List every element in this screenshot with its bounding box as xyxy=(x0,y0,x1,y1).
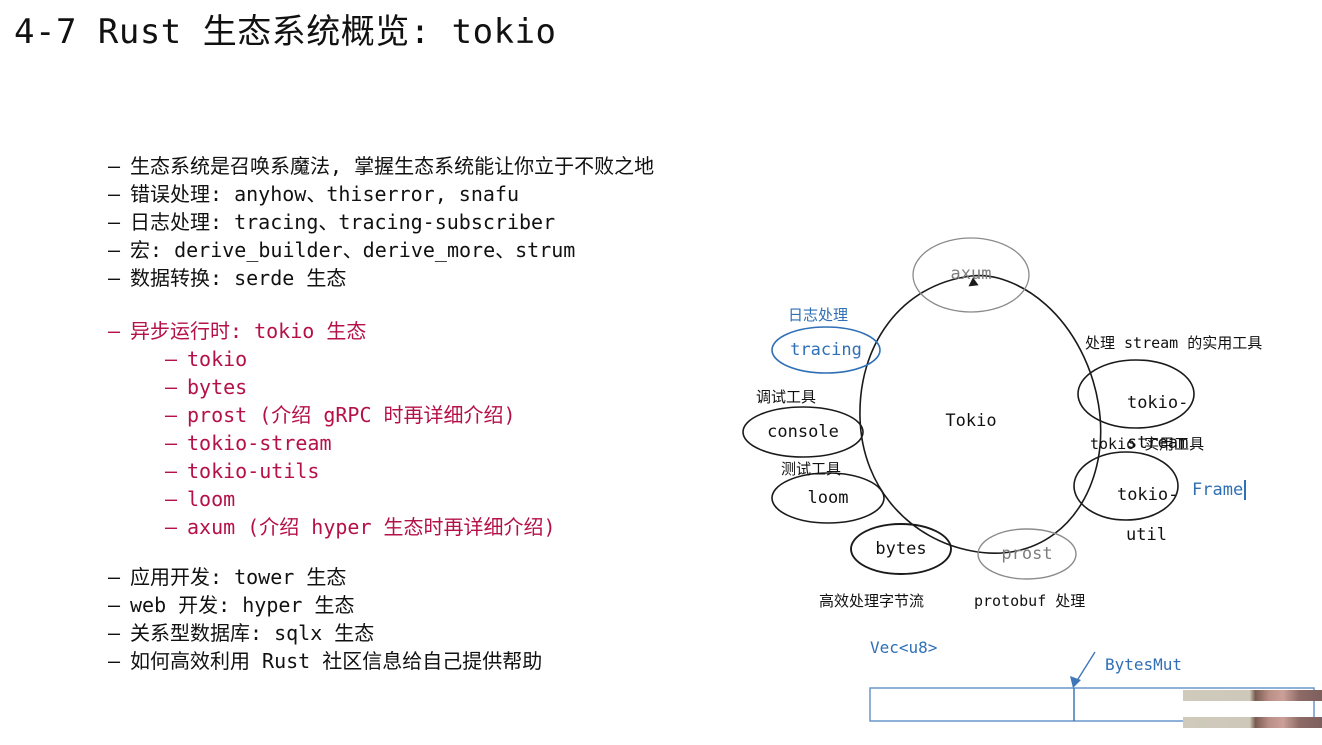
bullet-dash: – xyxy=(108,591,130,619)
list-item-label: prost (介绍 gRPC 时再详细介绍) xyxy=(187,401,516,429)
node-bytes: bytes xyxy=(861,539,941,559)
list-item: – 宏: derive_builder、derive_more、strum xyxy=(108,236,808,264)
annotation-bytes: 高效处理字节流 xyxy=(819,590,924,611)
list-item: – tokio xyxy=(108,345,808,373)
bullet-dash: – xyxy=(108,619,130,647)
node-tokio-util-line2: util xyxy=(1126,525,1167,545)
tokio-ecosystem-diagram: axum tracing console loom bytes prost to… xyxy=(740,228,1322,628)
annotation-tokio-stream: 处理 stream 的实用工具 xyxy=(1085,332,1262,353)
bullet-dash: – xyxy=(108,208,130,236)
bullet-dash: – xyxy=(108,236,130,264)
list-item: – loom xyxy=(108,485,808,513)
bullet-dash: – xyxy=(165,345,187,373)
video-overlay-strip xyxy=(1183,688,1322,745)
list-item-label: 应用开发: tower 生态 xyxy=(130,563,346,591)
node-tokio-center: Tokio xyxy=(931,411,1011,431)
list-item: – web 开发: hyper 生态 xyxy=(108,591,808,619)
annotation-tokio-util: tokio 实用工具 xyxy=(1090,433,1204,454)
list-item-label: tokio xyxy=(187,345,247,373)
bullet-group-top: – 生态系统是召唤系魔法, 掌握生态系统能让你立于不败之地 – 错误处理: an… xyxy=(108,152,808,292)
list-item-label: tokio-stream xyxy=(187,429,332,457)
list-item-label: bytes xyxy=(187,373,247,401)
node-loom: loom xyxy=(788,488,868,508)
annotation-frame: Frame xyxy=(1192,480,1246,500)
bullet-dash: – xyxy=(165,485,187,513)
list-item: – 数据转换: serde 生态 xyxy=(108,264,808,292)
list-item: – 应用开发: tower 生态 xyxy=(108,563,808,591)
label-bytesmut: BytesMut xyxy=(1105,655,1182,674)
list-item-label: 错误处理: anyhow、thiserror, snafu xyxy=(130,180,519,208)
bullet-dash: – xyxy=(108,647,130,675)
list-item-label: loom xyxy=(187,485,235,513)
list-item: – axum (介绍 hyper 生态时再详细介绍) xyxy=(108,513,808,541)
spacer xyxy=(108,292,808,317)
node-tokio-util: tokio- util xyxy=(1076,465,1176,565)
list-item: – 异步运行时: tokio 生态 xyxy=(108,317,808,345)
page-title: 4-7 Rust 生态系统概览: tokio xyxy=(14,4,557,53)
node-axum: axum xyxy=(931,264,1011,284)
list-item-label: 数据转换: serde 生态 xyxy=(130,264,346,292)
bullet-dash: – xyxy=(108,152,130,180)
list-item: – 关系型数据库: sqlx 生态 xyxy=(108,619,808,647)
list-item: – tokio-stream xyxy=(108,429,808,457)
bullet-dash: – xyxy=(108,317,130,345)
bullet-dash: – xyxy=(165,457,187,485)
bullet-dash: – xyxy=(165,373,187,401)
node-tokio-util-line1: tokio- xyxy=(1117,485,1178,505)
list-item: – 生态系统是召唤系魔法, 掌握生态系统能让你立于不败之地 xyxy=(108,152,808,180)
overlay-band xyxy=(1183,717,1322,728)
list-item: – tokio-utils xyxy=(108,457,808,485)
bullet-group-bottom: – 应用开发: tower 生态 – web 开发: hyper 生态 – 关系… xyxy=(108,563,808,675)
list-item-label: 关系型数据库: sqlx 生态 xyxy=(130,619,374,647)
bullet-dash: – xyxy=(108,180,130,208)
async-runtime-heading: 异步运行时: tokio 生态 xyxy=(130,317,366,345)
list-item-label: web 开发: hyper 生态 xyxy=(130,591,355,619)
bullet-dash: – xyxy=(165,401,187,429)
annotation-console: 调试工具 xyxy=(756,386,816,407)
bullet-dash: – xyxy=(108,563,130,591)
annotation-prost: protobuf 处理 xyxy=(974,590,1085,611)
list-item: – bytes xyxy=(108,373,808,401)
node-tracing: tracing xyxy=(781,340,871,360)
list-item: – 如何高效利用 Rust 社区信息给自己提供帮助 xyxy=(108,647,808,675)
bullet-dash: – xyxy=(165,429,187,457)
node-prost: prost xyxy=(987,544,1067,564)
bullet-dash: – xyxy=(108,264,130,292)
list-item-label: 日志处理: tracing、tracing-subscriber xyxy=(130,208,555,236)
node-tokio-stream-line1: tokio- xyxy=(1127,393,1188,413)
list-item: – prost (介绍 gRPC 时再详细介绍) xyxy=(108,401,808,429)
list-item: – 错误处理: anyhow、thiserror, snafu xyxy=(108,180,808,208)
annotation-loom: 测试工具 xyxy=(781,458,841,479)
list-item-label: tokio-utils xyxy=(187,457,319,485)
list-item: – 日志处理: tracing、tracing-subscriber xyxy=(108,208,808,236)
spacer xyxy=(108,541,808,563)
list-item-label: 宏: derive_builder、derive_more、strum xyxy=(130,236,575,264)
bullet-dash: – xyxy=(165,513,187,541)
list-item-label: 如何高效利用 Rust 社区信息给自己提供帮助 xyxy=(130,647,542,675)
label-vec-u8: Vec<u8> xyxy=(870,638,937,657)
node-tokio-stream: tokio- stream xyxy=(1086,373,1186,473)
bullet-list: – 生态系统是召唤系魔法, 掌握生态系统能让你立于不败之地 – 错误处理: an… xyxy=(108,152,808,675)
list-item-label: axum (介绍 hyper 生态时再详细介绍) xyxy=(187,513,556,541)
bullet-group-async-runtime: – 异步运行时: tokio 生态 – tokio – bytes – pros… xyxy=(108,317,808,541)
overlay-band xyxy=(1183,690,1322,701)
annotation-tracing: 日志处理 xyxy=(788,304,848,325)
list-item-label: 生态系统是召唤系魔法, 掌握生态系统能让你立于不败之地 xyxy=(130,152,654,180)
node-console: console xyxy=(753,422,853,442)
